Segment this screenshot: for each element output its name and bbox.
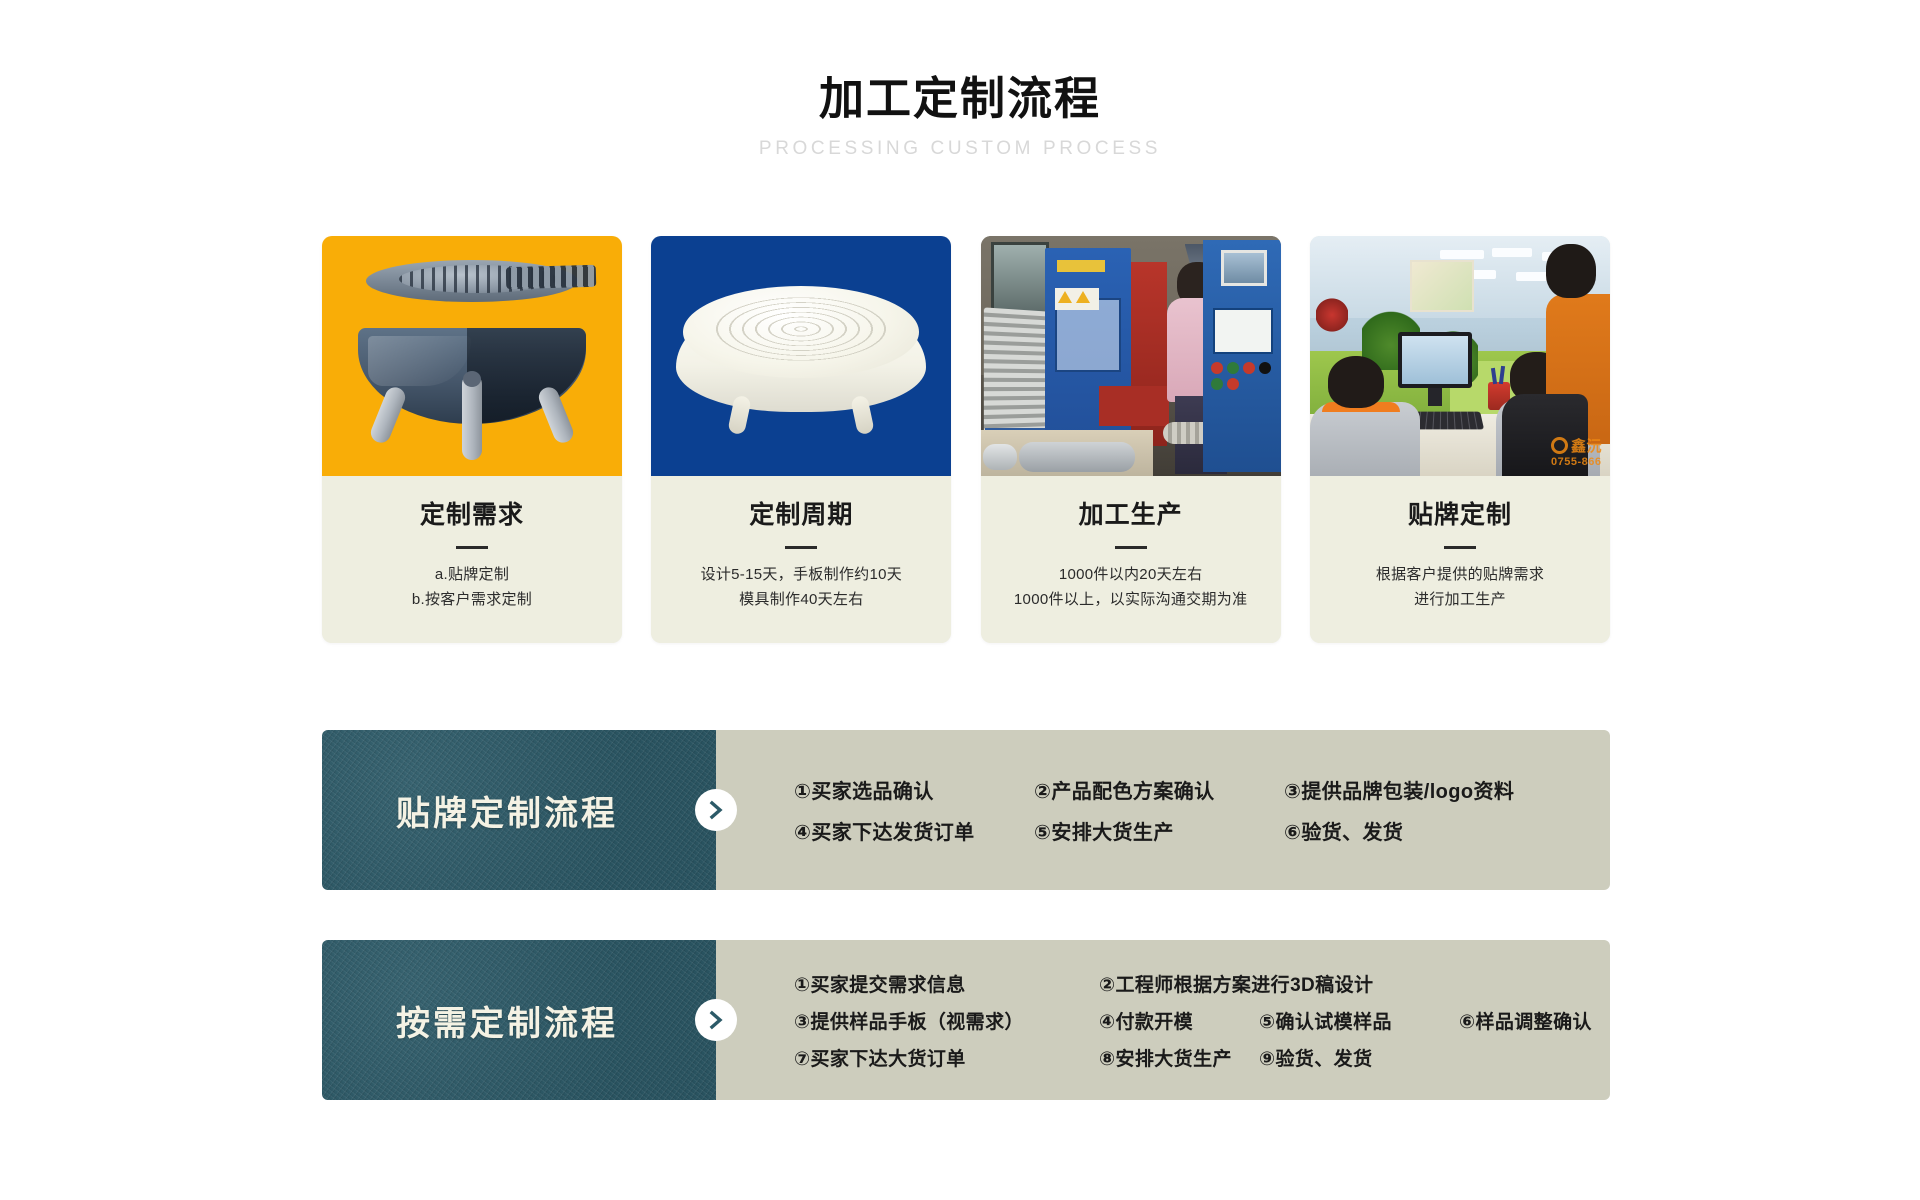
card-divider <box>1115 546 1147 549</box>
card-description-line: b.按客户需求定制 <box>334 588 610 613</box>
process-card-oem[interactable]: 鑫沅 0755-866 贴牌定制 根据客户提供的贴牌需求 进行加工生产 <box>1310 236 1610 643</box>
banner-step: ②产品配色方案确认 <box>1034 775 1284 804</box>
card-title: 定制需求 <box>334 500 610 530</box>
chevron-right-icon[interactable] <box>695 789 737 831</box>
hazard-warning-icon <box>1055 288 1099 310</box>
card-title: 加工生产 <box>993 500 1269 530</box>
banner-oem-flow: 贴牌定制流程 ①买家选品确认 ②产品配色方案确认 ③提供品牌包装/logo资料 … <box>322 730 1610 890</box>
machine-button-black <box>1259 362 1271 374</box>
factory-machine-label <box>1057 260 1105 272</box>
banner-title: 按需定制流程 <box>396 996 618 1045</box>
banner-step: ⑥样品调整确认 <box>1459 1007 1592 1034</box>
card-body: 定制需求 a.贴牌定制 b.按客户需求定制 <box>322 476 622 643</box>
banner-step: ①买家选品确认 <box>794 775 1034 804</box>
factory-molded-part-small <box>983 444 1017 470</box>
banner-on-demand-flow: 按需定制流程 ①买家提交需求信息 ②工程师根据方案进行3D稿设计 ③提供样品手板… <box>322 940 1610 1100</box>
banner-step: ①买家提交需求信息 <box>794 970 1099 997</box>
card-description-line: 进行加工生产 <box>1322 588 1598 613</box>
card-description: a.贴牌定制 b.按客户需求定制 <box>334 563 610 613</box>
page-subtitle: PROCESSING CUSTOM PROCESS <box>0 138 1920 160</box>
card-divider <box>456 546 488 549</box>
banner-step-row: ①买家提交需求信息 ②工程师根据方案进行3D稿设计 <box>794 970 1594 997</box>
machine-button-green <box>1227 362 1239 374</box>
machine-button-red <box>1211 362 1223 374</box>
banner-step: ④买家下达发货订单 <box>794 816 1034 845</box>
banner-step: ④付款开模 <box>1099 1007 1259 1034</box>
card-title: 定制周期 <box>663 500 939 530</box>
office-monitor <box>1398 332 1472 388</box>
banner-step: ③提供样品手板（视需求） <box>794 1007 1099 1034</box>
engineer-standing-head <box>1546 244 1596 298</box>
prototype-maze-rings-shape <box>707 294 895 364</box>
banner-step: ⑤安排大货生产 <box>1034 816 1284 845</box>
product-leg-left <box>368 384 408 445</box>
page-root: 加工定制流程 PROCESSING CUSTOM PROCESS 定制需求 <box>0 0 1920 1200</box>
product-bowl-highlight <box>368 336 471 386</box>
banner-step: ⑤确认试模样品 <box>1259 1007 1459 1034</box>
process-card-production[interactable]: 加工生产 1000件以内20天左右 1000件以上，以实际沟通交期为准 <box>981 236 1281 643</box>
photo-watermark: 鑫沅 0755-866 <box>1551 435 1602 468</box>
chevron-right-icon[interactable] <box>695 999 737 1041</box>
banner-step-row: ⑦买家下达大货订单 ⑧安排大货生产 ⑨验货、发货 <box>794 1044 1594 1071</box>
engineer-left-body <box>1310 402 1420 476</box>
banner-label-block[interactable]: 按需定制流程 <box>322 940 716 1100</box>
banner-step: ②工程师根据方案进行3D稿设计 <box>1099 970 1373 997</box>
process-card-row: 定制需求 a.贴牌定制 b.按客户需求定制 定制周期 设 <box>322 236 1610 643</box>
machine-button-red <box>1243 362 1255 374</box>
card-description-line: 模具制作40天左右 <box>663 588 939 613</box>
factory-molded-part <box>1019 442 1135 472</box>
page-header: 加工定制流程 PROCESSING CUSTOM PROCESS <box>0 0 1920 160</box>
factory-red-block <box>1099 386 1169 426</box>
banner-step-list: ①买家提交需求信息 ②工程师根据方案进行3D稿设计 ③提供样品手板（视需求） ④… <box>716 940 1610 1100</box>
process-card-custom-requirement[interactable]: 定制需求 a.贴牌定制 b.按客户需求定制 <box>322 236 622 643</box>
ceiling-light <box>1492 248 1532 257</box>
banner-step: ⑧安排大货生产 <box>1099 1044 1259 1071</box>
banner-label-block[interactable]: 贴牌定制流程 <box>322 730 716 890</box>
machine-button-green <box>1211 378 1223 390</box>
banner-step-row: ③提供样品手板（视需求） ④付款开模 ⑤确认试模样品 ⑥样品调整确认 <box>794 1007 1594 1034</box>
factory-monitor <box>1221 250 1267 286</box>
card-description-line: 1000件以上，以实际沟通交期为准 <box>993 588 1269 613</box>
banner-step: ⑨验货、发货 <box>1259 1044 1373 1071</box>
watermark-brand: 鑫沅 <box>1571 438 1602 455</box>
banner-step: ⑦买家下达大货订单 <box>794 1044 1099 1071</box>
card-description-line: a.贴牌定制 <box>334 563 610 588</box>
engineer-left-head <box>1328 356 1384 408</box>
card-body: 加工生产 1000件以内20天左右 1000件以上，以实际沟通交期为准 <box>981 476 1281 643</box>
card-title: 贴牌定制 <box>1322 500 1598 530</box>
card-body: 贴牌定制 根据客户提供的贴牌需求 进行加工生产 <box>1310 476 1610 643</box>
office-wall-poster <box>1410 260 1474 312</box>
factory-window <box>991 242 1049 316</box>
banner-step-list: ①买家选品确认 ②产品配色方案确认 ③提供品牌包装/logo资料 ④买家下达发货… <box>716 730 1610 890</box>
office-flower <box>1316 298 1348 332</box>
banner-step: ⑥验货、发货 <box>1284 816 1403 845</box>
monitor-stand <box>1428 388 1442 406</box>
card-description: 设计5-15天，手板制作约10天 模具制作40天左右 <box>663 563 939 613</box>
card-image-exploded-product <box>322 236 622 476</box>
card-image-factory-photo <box>981 236 1281 476</box>
machine-button-red <box>1227 378 1239 390</box>
product-leg-right <box>536 384 576 445</box>
factory-button-cluster <box>1211 362 1273 398</box>
card-description: 1000件以内20天左右 1000件以上，以实际沟通交期为准 <box>993 563 1269 613</box>
product-leg-center <box>462 374 482 460</box>
banner-step-row: ①买家选品确认 ②产品配色方案确认 ③提供品牌包装/logo资料 <box>794 775 1594 804</box>
banner-step-row: ④买家下达发货订单 ⑤安排大货生产 ⑥验货、发货 <box>794 816 1594 845</box>
card-description-line: 1000件以内20天左右 <box>993 563 1269 588</box>
card-description: 根据客户提供的贴牌需求 进行加工生产 <box>1322 563 1598 613</box>
watermark-logo-icon <box>1551 437 1568 454</box>
card-description-line: 设计5-15天，手板制作约10天 <box>663 563 939 588</box>
card-description-line: 根据客户提供的贴牌需求 <box>1322 563 1598 588</box>
card-divider <box>785 546 817 549</box>
card-divider <box>1444 546 1476 549</box>
process-card-custom-cycle[interactable]: 定制周期 设计5-15天，手板制作约10天 模具制作40天左右 <box>651 236 951 643</box>
ceiling-light <box>1440 250 1484 259</box>
watermark-phone: 0755-866 <box>1551 456 1602 468</box>
card-body: 定制周期 设计5-15天，手板制作约10天 模具制作40天左右 <box>651 476 951 643</box>
card-image-office-photo: 鑫沅 0755-866 <box>1310 236 1610 476</box>
card-image-white-prototype <box>651 236 951 476</box>
banner-title: 贴牌定制流程 <box>396 786 618 835</box>
product-lid-notch-shape <box>506 265 597 289</box>
banner-step: ③提供品牌包装/logo资料 <box>1284 775 1514 804</box>
factory-hmi-screen <box>1213 308 1273 354</box>
page-title: 加工定制流程 <box>0 74 1920 124</box>
